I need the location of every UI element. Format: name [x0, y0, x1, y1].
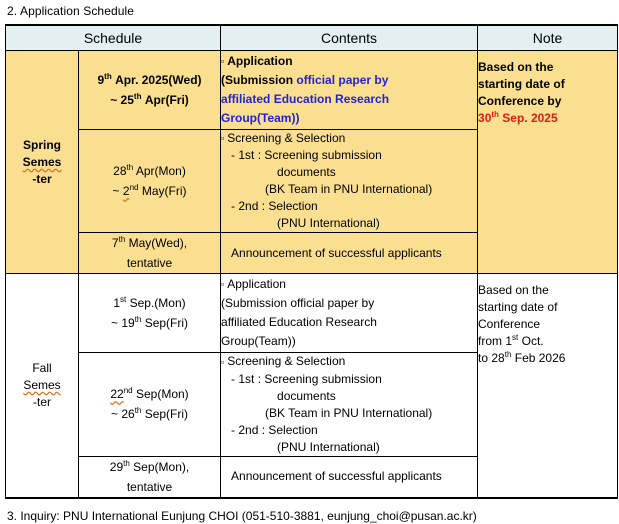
- date-number: 28: [113, 164, 126, 178]
- date-number: 22: [110, 387, 123, 401]
- date-text: Sep.(Mon): [130, 296, 186, 310]
- announcement-text: Announcement of successful applicants: [221, 246, 442, 260]
- note-line: Based on the: [478, 59, 617, 76]
- date-ordinal-suffix: th: [135, 406, 142, 415]
- semester-label-line3: -ter: [6, 171, 78, 188]
- date-cell-spring-application: 9th Apr. 2025(Wed) ~ 25th Apr(Fri): [79, 51, 221, 130]
- date-ordinal-suffix: th: [123, 459, 130, 468]
- date-ordinal-suffix: th: [119, 235, 126, 244]
- date-line-1: 29th Sep(Mon),: [79, 457, 220, 477]
- date-ordinal-suffix: st: [120, 295, 126, 304]
- date-text: Sep(Fri): [145, 407, 188, 421]
- contents-cell-spring-application: ▫Application (Submission official paper …: [221, 51, 478, 130]
- column-header-schedule: Schedule: [6, 25, 221, 51]
- date-line-2: tentative: [79, 477, 220, 497]
- date-range-tilde: ~: [111, 407, 118, 421]
- announcement-text: Announcement of successful applicants: [221, 469, 442, 483]
- contents-line: Group(Team)): [221, 109, 477, 128]
- contents-line: affiliated Education Research: [221, 313, 477, 332]
- contents-line: documents: [221, 164, 477, 181]
- semester-label-line1: Spring: [6, 137, 78, 154]
- contents-line: documents: [221, 388, 477, 405]
- date-line-2: ~ 19th Sep(Fri): [79, 313, 220, 333]
- date-text: Apr(Fri): [145, 93, 189, 107]
- contents-bullet-line: ▫Screening & Selection: [221, 353, 477, 370]
- date-line-1: 28th Apr(Mon): [79, 161, 220, 181]
- date-line-2: ~ 2nd May(Fri): [79, 181, 220, 201]
- contents-line: (BK Team in PNU International): [221, 181, 477, 198]
- contents-bullet-line: ▫Screening & Selection: [221, 130, 477, 147]
- date-line-1: 1st Sep.(Mon): [79, 293, 220, 313]
- date-text: Apr(Mon): [136, 164, 186, 178]
- note-period-to: to 28th Feb 2026: [478, 350, 617, 367]
- date-number: 19: [121, 316, 134, 330]
- contents-bullet-line: ▫Application: [221, 275, 477, 294]
- page-title: 2. Application Schedule: [3, 0, 616, 24]
- inquiry-footer: 3. Inquiry: PNU International Eunjung CH…: [3, 499, 616, 523]
- table-row: Fall Semes -ter 1st Sep.(Mon) ~ 19th Sep…: [6, 274, 618, 353]
- semester-cell-fall: Fall Semes -ter: [6, 274, 79, 498]
- note-line: Based on the: [478, 282, 617, 299]
- contents-line: (PNU International): [221, 215, 477, 232]
- contents-line: - 1st : Screening submission: [221, 371, 477, 388]
- date-number: 25: [121, 93, 134, 107]
- date-ordinal-suffix: th: [127, 163, 134, 172]
- date-number: 26: [121, 407, 134, 421]
- date-text: Apr. 2025(Wed): [115, 73, 201, 87]
- document-page: 2. Application Schedule Schedule Content…: [0, 0, 619, 524]
- contents-line: (Submission official paper by: [221, 294, 477, 313]
- semester-label-line3: -ter: [6, 394, 78, 411]
- contents-line: - 1st : Screening submission: [221, 147, 477, 164]
- date-line-2: ~ 25th Apr(Fri): [79, 90, 220, 110]
- date-text: Sep(Mon): [136, 387, 189, 401]
- contents-cell-fall-announcement: Announcement of successful applicants: [221, 456, 478, 498]
- semester-label-line1: Fall: [6, 360, 78, 377]
- note-cell-spring: Based on the starting date of Conference…: [478, 51, 618, 274]
- date-cell-fall-application: 1st Sep.(Mon) ~ 19th Sep(Fri): [79, 274, 221, 353]
- table-row: Spring Semes -ter 9th Apr. 2025(Wed) ~ 2…: [6, 51, 618, 130]
- date-number: 29: [110, 460, 123, 474]
- application-schedule-table: Schedule Contents Note Spring Semes -ter…: [5, 24, 618, 499]
- date-text: May(Fri): [142, 184, 187, 198]
- note-line: Conference by: [478, 93, 617, 110]
- date-text: Sep(Mon),: [133, 460, 189, 474]
- note-cell-fall: Based on the starting date of Conference…: [478, 274, 618, 498]
- contents-line: (PNU International): [221, 439, 477, 456]
- note-line: starting date of: [478, 299, 617, 316]
- date-range-tilde: ~: [113, 184, 120, 198]
- date-range-tilde: ~: [110, 93, 117, 107]
- note-line: starting date of: [478, 76, 617, 93]
- column-header-contents: Contents: [221, 25, 478, 51]
- contents-line: Group(Team)): [221, 332, 477, 351]
- date-cell-spring-announcement: 7th May(Wed), tentative: [79, 233, 221, 274]
- date-ordinal-suffix: th: [134, 92, 142, 101]
- date-line-2: ~ 26th Sep(Fri): [79, 404, 220, 424]
- note-line: Conference: [478, 316, 617, 333]
- contents-cell-fall-application: ▫Application (Submission official paper …: [221, 274, 478, 353]
- semester-cell-spring: Spring Semes -ter: [6, 51, 79, 274]
- note-deadline: 30th Sep. 2025: [478, 110, 617, 127]
- contents-line: - 2nd : Selection: [221, 422, 477, 439]
- date-ordinal-suffix: nd: [130, 183, 139, 192]
- date-number: 7: [112, 236, 119, 250]
- date-ordinal-suffix: nd: [124, 386, 133, 395]
- date-ordinal-suffix: th: [135, 315, 142, 324]
- date-number: 2: [123, 184, 130, 198]
- contents-line: affiliated Education Research: [221, 90, 477, 109]
- note-period-from: from 1st Oct.: [478, 333, 617, 350]
- date-range-tilde: ~: [111, 316, 118, 330]
- date-line-2: tentative: [79, 253, 220, 273]
- semester-label-line2: Semes: [6, 154, 78, 171]
- contents-bullet-line: ▫Application: [221, 52, 477, 71]
- semester-label-line2: Semes: [6, 377, 78, 394]
- date-text: May(Wed),: [129, 236, 187, 250]
- date-line-1: 9th Apr. 2025(Wed): [79, 70, 220, 90]
- contents-cell-spring-announcement: Announcement of successful applicants: [221, 233, 478, 274]
- contents-line: (Submission official paper by: [221, 71, 477, 90]
- date-text: Sep(Fri): [145, 316, 188, 330]
- date-cell-spring-screening: 28th Apr(Mon) ~ 2nd May(Fri): [79, 130, 221, 233]
- contents-cell-fall-screening: ▫Screening & Selection - 1st : Screening…: [221, 353, 478, 456]
- date-cell-fall-screening: 22nd Sep(Mon) ~ 26th Sep(Fri): [79, 353, 221, 456]
- contents-cell-spring-screening: ▫Screening & Selection - 1st : Screening…: [221, 130, 478, 233]
- table-header-row: Schedule Contents Note: [6, 25, 618, 51]
- column-header-note: Note: [478, 25, 618, 51]
- contents-line: (BK Team in PNU International): [221, 405, 477, 422]
- date-cell-fall-announcement: 29th Sep(Mon), tentative: [79, 456, 221, 498]
- date-line-1: 7th May(Wed),: [79, 233, 220, 253]
- contents-line: - 2nd : Selection: [221, 198, 477, 215]
- date-ordinal-suffix: th: [104, 72, 112, 81]
- date-line-1: 22nd Sep(Mon): [79, 384, 220, 404]
